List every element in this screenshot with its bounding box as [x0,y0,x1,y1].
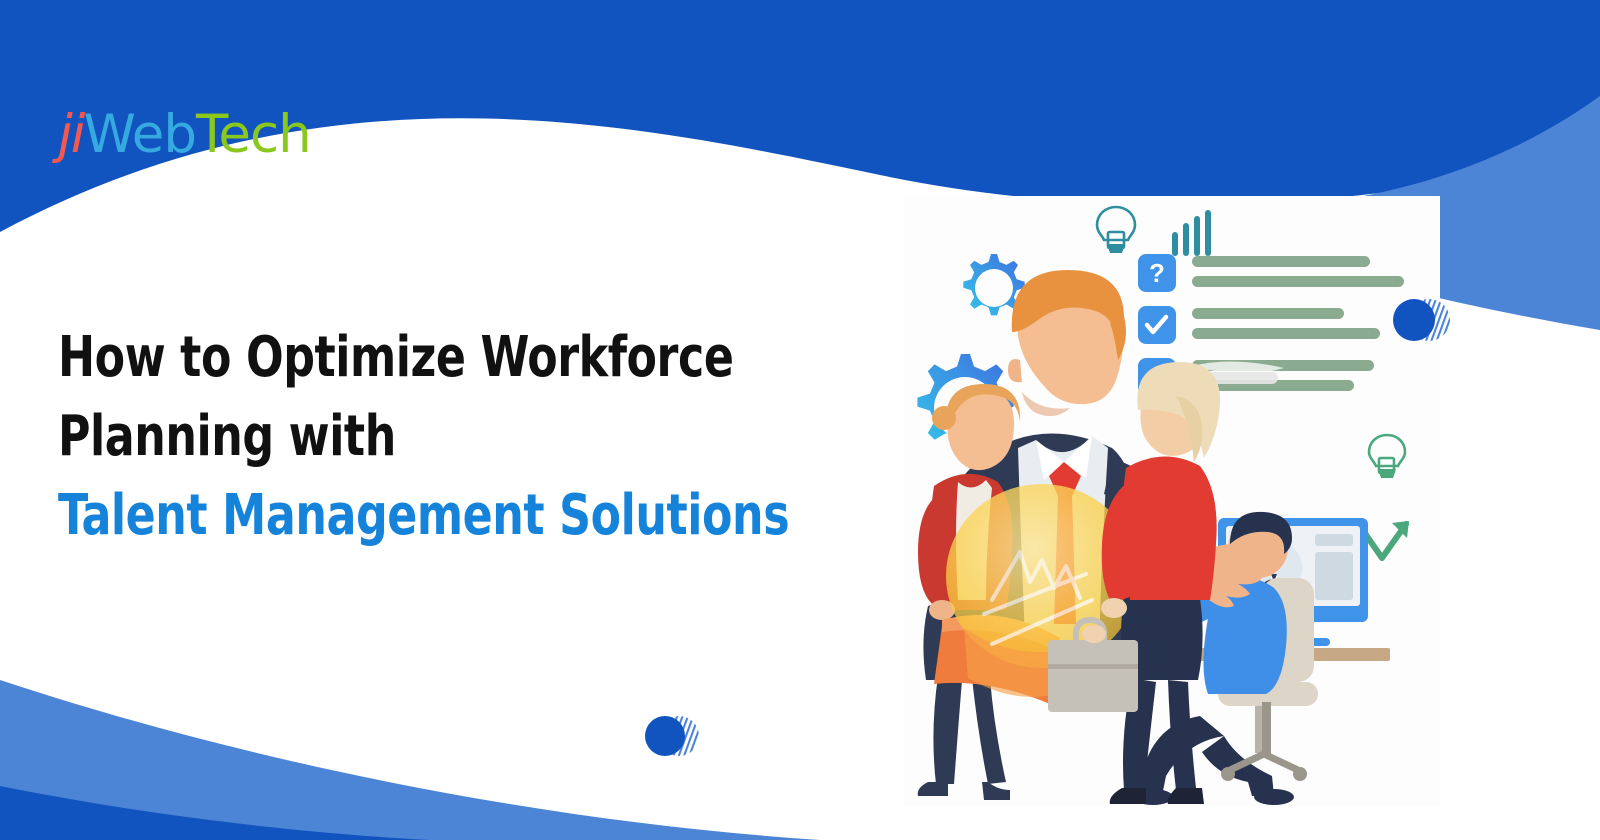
checklist-marker-label: ? [1149,258,1165,288]
headline-line-2: Planning with [58,397,727,476]
checklist-bar [1192,256,1370,267]
bottom-dark-blue-wave [0,786,430,840]
headline-line-1: How to Optimize Workforce [58,318,727,397]
logo-segment-tech: Tech [196,104,311,165]
bottom-light-blue-wave [0,680,820,840]
checklist-bar [1192,276,1404,287]
blog-banner: jiWebTech How to Optimize Workforce Plan… [0,0,1600,840]
page-title: How to Optimize Workforce Planning with … [58,318,818,555]
hero-illustration: ? [900,196,1440,806]
logo-segment-ji: ji [58,104,83,165]
dot-solid-circle [645,716,685,756]
dot-motif-right [1393,297,1453,345]
checklist-bar [1192,328,1380,339]
headline-line-3: Talent Management Solutions [58,476,727,555]
brand-logo[interactable]: jiWebTech [58,108,311,161]
dot-motif-lower-left [645,714,701,760]
logo-segment-web: Web [83,104,196,165]
dot-solid-circle [1393,299,1435,341]
checklist-bar [1192,308,1344,319]
